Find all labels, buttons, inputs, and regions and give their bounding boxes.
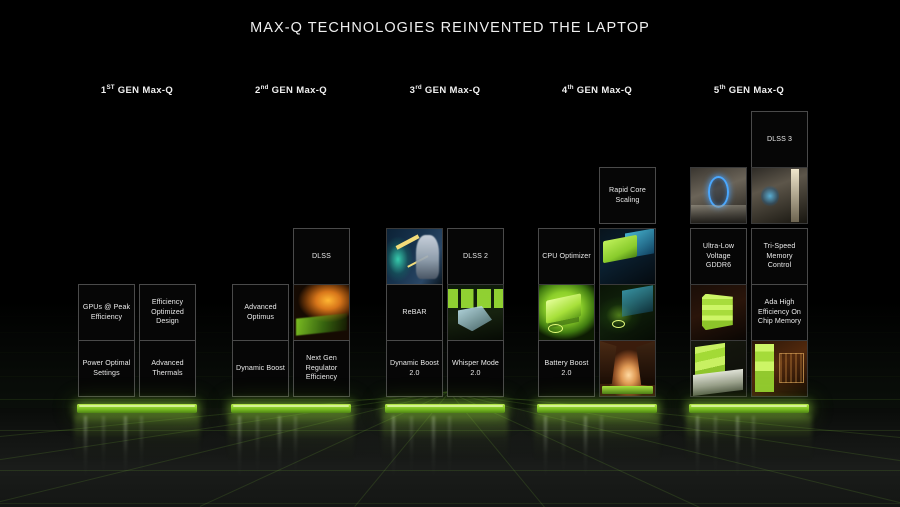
stage-bar-gen5 xyxy=(689,404,809,413)
tile-label: Tri-Speed Memory Control xyxy=(752,240,807,273)
stage-bar-gen2 xyxy=(231,404,351,413)
portal-game-blue-ring-image[interactable] xyxy=(690,167,747,224)
floor-grid-line xyxy=(0,399,900,400)
generation-label-rest: GEN Max-Q xyxy=(726,85,784,96)
tile-label: Advanced Thermals xyxy=(140,357,195,380)
light-pillar xyxy=(140,416,143,478)
generation-label-ordinal: rd xyxy=(415,84,422,91)
light-pillar xyxy=(448,416,451,478)
tile-label: GPUs @ Peak Efficiency xyxy=(79,301,134,324)
tile-label: Rapid Core Scaling xyxy=(600,184,655,207)
tile-ultra-low-voltage-gddr6[interactable]: Ultra-Low Voltage GDDR6 xyxy=(690,228,747,285)
slide-stage: MAX-Q TECHNOLOGIES REINVENTED THE LAPTOP… xyxy=(0,0,900,507)
light-pillar xyxy=(410,416,413,478)
tile-whisper-mode-2-0[interactable]: Whisper Mode 2.0 xyxy=(447,340,504,397)
generation-label-rest: GEN Max-Q xyxy=(422,85,480,96)
green-chip-cyan-layers-image[interactable] xyxy=(599,228,656,285)
light-pillar xyxy=(84,416,87,478)
portal-game-blue-ring-image-art xyxy=(691,168,746,223)
gaming-laptop-orange-glow-image[interactable] xyxy=(293,284,350,341)
tile-label: Dynamic Boost 2.0 xyxy=(387,357,442,380)
tile-label: Whisper Mode 2.0 xyxy=(448,357,503,380)
tile-label: Next Gen Regulator Efficiency xyxy=(294,352,349,385)
tile-dlss[interactable]: DLSS xyxy=(293,228,350,285)
dark-green-board-closeup-image-art xyxy=(600,285,655,340)
generation-label-ordinal: ST xyxy=(106,84,114,91)
sunset-landscape-laptop-image-art xyxy=(600,341,655,396)
tile-label: Ada High Efficiency On Chip Memory xyxy=(752,296,807,329)
tile-rapid-core-scaling[interactable]: Rapid Core Scaling xyxy=(599,167,656,224)
generation-label-gen1: 1ST GEN Max-Q xyxy=(57,84,217,96)
generation-label-gen4: 4th GEN Max-Q xyxy=(517,84,677,96)
green-memory-stack-image[interactable] xyxy=(690,284,747,341)
gaming-laptop-orange-glow-image-art xyxy=(294,285,349,340)
light-pillar xyxy=(124,416,127,478)
tile-label: DLSS 2 xyxy=(460,250,491,264)
tile-efficiency-optimized-design[interactable]: Efficiency Optimized Design xyxy=(139,284,196,341)
bright-green-gpu-die-image-art xyxy=(539,285,594,340)
light-pillar xyxy=(584,416,587,478)
tile-label: DLSS xyxy=(309,250,334,264)
tile-label: Battery Boost 2.0 xyxy=(539,357,594,380)
green-module-on-copper-board-image-art xyxy=(752,341,807,396)
portal-game-corridor-image-art xyxy=(752,168,807,223)
tile-gpus-peak-efficiency[interactable]: GPUs @ Peak Efficiency xyxy=(78,284,135,341)
bright-green-gpu-die-image[interactable] xyxy=(538,284,595,341)
stage-bar-gen1 xyxy=(77,404,197,413)
tile-label: Advanced Optimus xyxy=(233,301,288,324)
tile-label: Ultra-Low Voltage GDDR6 xyxy=(691,240,746,273)
green-circuit-board-image[interactable] xyxy=(447,284,504,341)
stage-bar-gen3 xyxy=(385,404,505,413)
slide-title: MAX-Q TECHNOLOGIES REINVENTED THE LAPTOP xyxy=(0,20,900,36)
light-pillar xyxy=(392,416,395,478)
green-silver-memory-module-image-art xyxy=(691,341,746,396)
tile-advanced-optimus[interactable]: Advanced Optimus xyxy=(232,284,289,341)
green-module-on-copper-board-image[interactable] xyxy=(751,340,808,397)
generation-label-ordinal: nd xyxy=(261,84,269,91)
tile-cpu-optimizer[interactable]: CPU Optimizer xyxy=(538,228,595,285)
tile-power-optimal-settings[interactable]: Power Optimal Settings xyxy=(78,340,135,397)
bar-reflection-gen1 xyxy=(74,415,200,461)
light-pillar xyxy=(278,416,281,478)
bar-reflection-gen3 xyxy=(382,415,508,461)
tile-advanced-thermals[interactable]: Advanced Thermals xyxy=(139,340,196,397)
generation-label-gen5: 5th GEN Max-Q xyxy=(669,84,829,96)
tile-next-gen-regulator-efficiency[interactable]: Next Gen Regulator Efficiency xyxy=(293,340,350,397)
stage-bar-gen4 xyxy=(537,404,657,413)
bar-reflection-gen5 xyxy=(686,415,812,461)
sunset-landscape-laptop-image[interactable] xyxy=(599,340,656,397)
tile-dlss-3[interactable]: DLSS 3 xyxy=(751,111,808,168)
light-pillar xyxy=(696,416,699,478)
tile-dynamic-boost-2-0[interactable]: Dynamic Boost 2.0 xyxy=(386,340,443,397)
game-scene-blue-character-image-art xyxy=(387,229,442,284)
generation-label-rest: GEN Max-Q xyxy=(574,85,632,96)
tile-dlss-2[interactable]: DLSS 2 xyxy=(447,228,504,285)
light-pillar xyxy=(544,416,547,478)
generation-label-gen2: 2nd GEN Max-Q xyxy=(211,84,371,96)
tile-label: Power Optimal Settings xyxy=(79,357,134,380)
tile-battery-boost-2-0[interactable]: Battery Boost 2.0 xyxy=(538,340,595,397)
light-pillar xyxy=(256,416,259,478)
tile-label: ReBAR xyxy=(399,306,429,320)
laptop-bar xyxy=(602,386,653,395)
tile-label: DLSS 3 xyxy=(764,133,795,147)
green-memory-stack-image-art xyxy=(691,285,746,340)
tile-rebar[interactable]: ReBAR xyxy=(386,284,443,341)
generation-label-rest: GEN Max-Q xyxy=(269,85,327,96)
light-pillar xyxy=(102,416,105,478)
light-pillar xyxy=(294,416,297,478)
tile-ada-high-efficiency-on-chip-memory[interactable]: Ada High Efficiency On Chip Memory xyxy=(751,284,808,341)
light-pillar xyxy=(752,416,755,478)
portal-game-corridor-image[interactable] xyxy=(751,167,808,224)
light-pillar xyxy=(238,416,241,478)
game-scene-blue-character-image[interactable] xyxy=(386,228,443,285)
green-silver-memory-module-image[interactable] xyxy=(690,340,747,397)
light-pillar xyxy=(600,416,603,478)
bar-reflection-gen4 xyxy=(534,415,660,461)
light-pillar xyxy=(714,416,717,478)
green-chip-cyan-layers-image-art xyxy=(600,229,655,284)
tile-tri-speed-memory-control[interactable]: Tri-Speed Memory Control xyxy=(751,228,808,285)
generation-label-gen3: 3rd GEN Max-Q xyxy=(365,84,525,96)
generation-label-rest: GEN Max-Q xyxy=(115,85,173,96)
floor-grid-line xyxy=(0,503,900,504)
dark-green-board-closeup-image[interactable] xyxy=(599,284,656,341)
light-pillar xyxy=(736,416,739,478)
tile-label: CPU Optimizer xyxy=(539,250,594,264)
tile-label: Efficiency Optimized Design xyxy=(140,296,195,329)
bar-reflection-gen2 xyxy=(228,415,354,461)
light-pillar xyxy=(432,416,435,478)
green-circuit-board-image-art xyxy=(448,285,503,340)
tile-label: Dynamic Boost xyxy=(233,362,288,376)
light-pillar xyxy=(562,416,565,478)
tile-dynamic-boost[interactable]: Dynamic Boost xyxy=(232,340,289,397)
